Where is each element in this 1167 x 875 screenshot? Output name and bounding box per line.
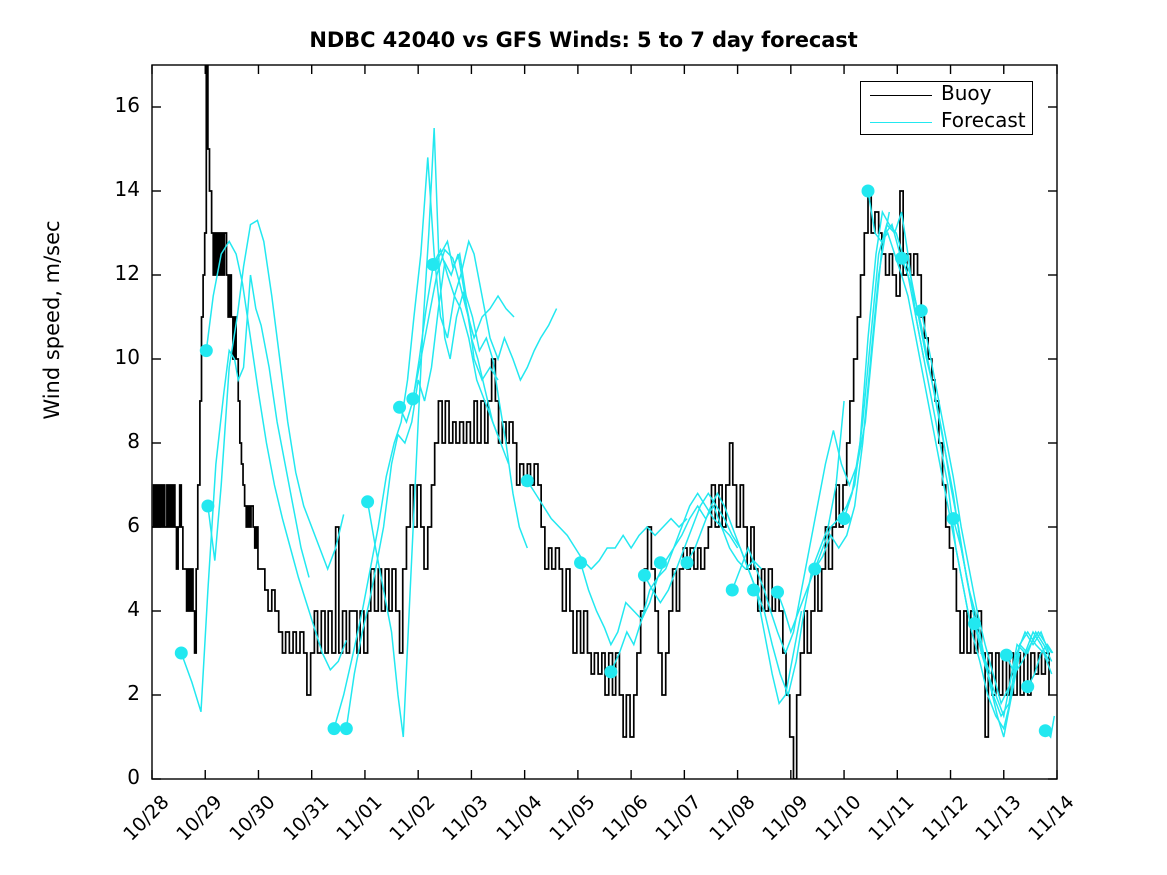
forecast-start-marker xyxy=(947,512,960,525)
y-tick-label: 12 xyxy=(98,261,140,285)
y-tick-label: 16 xyxy=(98,93,140,117)
forecast-series-line xyxy=(413,250,514,399)
legend-item-forecast: Forecast xyxy=(861,109,1032,136)
y-tick-label: 8 xyxy=(98,429,140,453)
forecast-start-marker xyxy=(200,344,213,357)
forecast-start-marker xyxy=(1000,649,1013,662)
y-tick-label: 10 xyxy=(98,345,140,369)
forecast-start-marker xyxy=(838,512,851,525)
chart-figure: NDBC 42040 vs GFS Winds: 5 to 7 day fore… xyxy=(0,0,1167,875)
forecast-start-marker xyxy=(654,556,667,569)
forecast-start-marker xyxy=(862,185,875,198)
forecast-start-marker xyxy=(574,556,587,569)
legend-label-forecast: Forecast xyxy=(941,108,1026,132)
legend-swatch-buoy xyxy=(870,95,932,96)
forecast-start-marker xyxy=(968,617,981,630)
forecast-start-marker xyxy=(328,722,341,735)
y-tick-label: 2 xyxy=(98,681,140,705)
forecast-start-marker xyxy=(604,665,617,678)
legend-swatch-forecast xyxy=(870,122,932,123)
forecast-start-marker xyxy=(201,500,214,513)
forecast-series-line xyxy=(687,401,844,695)
forecast-start-marker xyxy=(393,401,406,414)
forecast-series-line xyxy=(368,128,498,737)
forecast-series-line xyxy=(844,212,990,674)
forecast-start-marker xyxy=(521,474,534,487)
forecast-start-marker xyxy=(895,252,908,265)
chart-legend: BuoyForecast xyxy=(860,81,1033,135)
forecast-start-marker xyxy=(747,584,760,597)
forecast-series-line xyxy=(953,519,1051,737)
forecast-start-marker xyxy=(427,258,440,271)
forecast-start-marker xyxy=(1021,680,1034,693)
forecast-series-line xyxy=(815,225,972,632)
y-tick-label: 14 xyxy=(98,177,140,201)
forecast-start-marker xyxy=(726,584,739,597)
y-tick-label: 4 xyxy=(98,597,140,621)
forecast-series-line xyxy=(868,191,1020,729)
forecast-start-marker xyxy=(361,495,374,508)
forecast-start-marker xyxy=(340,722,353,735)
forecast-start-marker xyxy=(681,556,694,569)
forecast-start-marker xyxy=(175,647,188,660)
forecast-series-line xyxy=(208,220,344,569)
data-series xyxy=(152,57,1054,779)
y-tick-label: 0 xyxy=(98,765,140,789)
legend-label-buoy: Buoy xyxy=(941,81,991,105)
forecast-start-marker xyxy=(808,563,821,576)
forecast-start-marker xyxy=(915,304,928,317)
forecast-start-marker xyxy=(406,392,419,405)
forecast-start-marker xyxy=(771,586,784,599)
forecast-start-marker xyxy=(1039,724,1052,737)
legend-item-buoy: Buoy xyxy=(861,82,1032,109)
forecast-start-marker xyxy=(638,569,651,582)
y-tick-label: 6 xyxy=(98,513,140,537)
